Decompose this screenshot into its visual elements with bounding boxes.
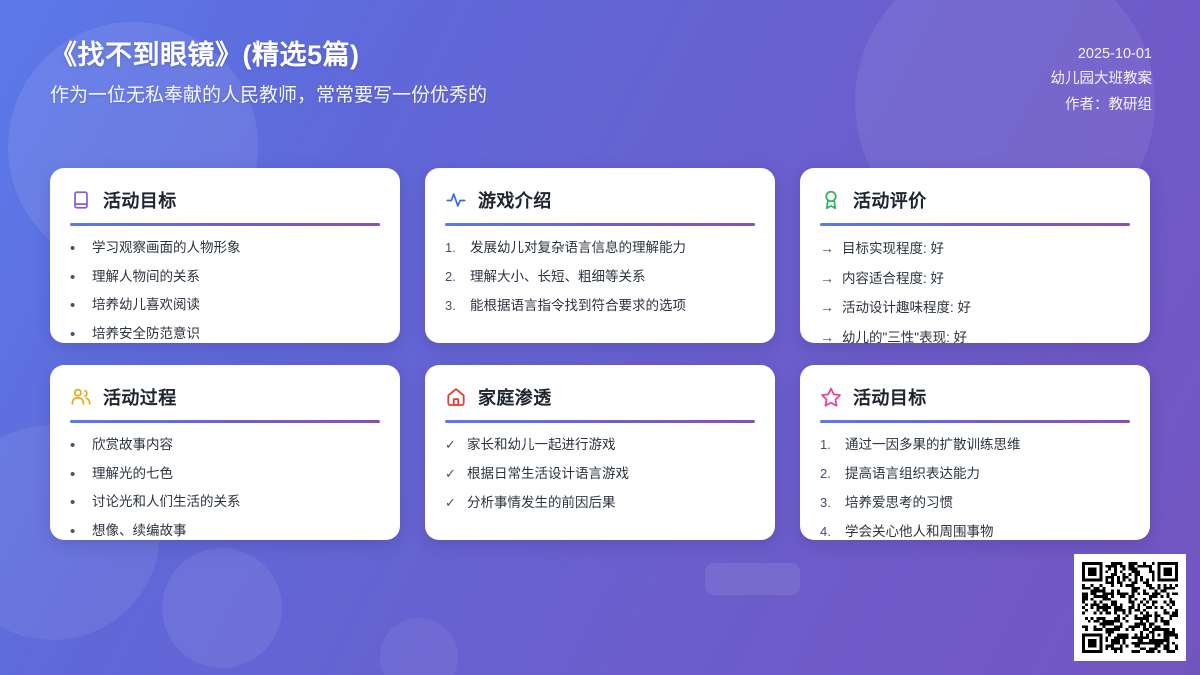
- list-marker: 2.: [820, 465, 837, 484]
- book-icon: [70, 189, 92, 211]
- header-category: 幼儿园大班教案: [1051, 67, 1153, 92]
- list-marker: →: [820, 268, 834, 288]
- list-item: 4.学会关心他人和周围事物: [820, 522, 1130, 540]
- list-marker: ✓: [445, 436, 459, 455]
- activity-pulse-icon: [445, 189, 467, 211]
- card-header: 家庭渗透: [445, 382, 755, 412]
- list-item: 3.培养爱思考的习惯: [820, 493, 1130, 513]
- list-item-text: 学会关心他人和周围事物: [845, 522, 1130, 540]
- card-list: 1.通过一因多果的扩散训练思维2.提高语言组织表达能力3.培养爱思考的习惯4.学…: [820, 435, 1130, 540]
- card-list: 1.发展幼儿对复杂语言信息的理解能力2.理解大小、长短、粗细等关系3.能根据语言…: [445, 238, 755, 316]
- card-divider: [820, 223, 1130, 226]
- list-marker: 3.: [820, 494, 837, 513]
- list-item-text: 欣赏故事内容: [92, 435, 380, 455]
- header-author: 作者：教研组: [1051, 93, 1153, 118]
- list-item: •理解人物间的关系: [70, 267, 380, 287]
- card-divider: [70, 420, 380, 423]
- card-header: 游戏介绍: [445, 185, 755, 215]
- card-list: •学习观察画面的人物形象•理解人物间的关系•培养幼儿喜欢阅读•培养安全防范意识: [70, 238, 380, 343]
- list-item: ✓根据日常生活设计语言游戏: [445, 464, 755, 484]
- users-icon: [70, 386, 92, 408]
- list-marker: •: [70, 327, 84, 342]
- page-subtitle: 作为一位无私奉献的人民教师，常常要写一份优秀的: [50, 83, 487, 109]
- list-item-text: 想像、续编故事: [92, 521, 380, 540]
- card-header: 活动目标: [820, 382, 1130, 412]
- list-marker: •: [70, 524, 84, 539]
- list-item-text: 培养爱思考的习惯: [845, 493, 1130, 513]
- star-icon: [820, 386, 842, 408]
- list-item-text: 发展幼儿对复杂语言信息的理解能力: [470, 238, 755, 258]
- list-item: →目标实现程度: 好: [820, 238, 1130, 259]
- content-card: 活动目标1.通过一因多果的扩散训练思维2.提高语言组织表达能力3.培养爱思考的习…: [800, 365, 1150, 540]
- card-list: →目标实现程度: 好→内容适合程度: 好→活动设计趣味程度: 好→幼儿的"三性"…: [820, 238, 1130, 343]
- list-item: 3.能根据语言指令找到符合要求的选项: [445, 296, 755, 316]
- list-marker: →: [820, 297, 834, 317]
- list-item-text: 学习观察画面的人物形象: [92, 238, 380, 258]
- card-title: 活动目标: [103, 187, 177, 213]
- list-marker: •: [70, 270, 84, 285]
- list-item-text: 提高语言组织表达能力: [845, 464, 1130, 484]
- list-item: →内容适合程度: 好: [820, 268, 1130, 289]
- content-card: 活动评价→目标实现程度: 好→内容适合程度: 好→活动设计趣味程度: 好→幼儿的…: [800, 168, 1150, 343]
- card-title: 家庭渗透: [478, 384, 552, 410]
- page-header: 《找不到眼镜》(精选5篇) 作为一位无私奉献的人民教师，常常要写一份优秀的 20…: [0, 0, 1200, 150]
- list-item-text: 能根据语言指令找到符合要求的选项: [470, 296, 755, 316]
- list-item: •培养安全防范意识: [70, 324, 380, 343]
- qr-code[interactable]: [1074, 554, 1186, 661]
- card-header: 活动目标: [70, 185, 380, 215]
- decorative-circle-lower-left: [162, 548, 282, 668]
- list-item-text: 家长和幼儿一起进行游戏: [467, 435, 755, 455]
- card-list: ✓家长和幼儿一起进行游戏✓根据日常生活设计语言游戏✓分析事情发生的前因后果: [445, 435, 755, 513]
- list-item: →活动设计趣味程度: 好: [820, 297, 1130, 318]
- card-divider: [445, 223, 755, 226]
- page-title: 《找不到眼镜》(精选5篇): [50, 38, 487, 73]
- content-card: 活动目标•学习观察画面的人物形象•理解人物间的关系•培养幼儿喜欢阅读•培养安全防…: [50, 168, 400, 343]
- list-item: •理解光的七色: [70, 464, 380, 484]
- card-title: 游戏介绍: [478, 187, 552, 213]
- list-item-text: 目标实现程度: 好: [842, 239, 1130, 259]
- list-marker: •: [70, 467, 84, 482]
- list-item: 1.通过一因多果的扩散训练思维: [820, 435, 1130, 455]
- list-item: 2.理解大小、长短、粗细等关系: [445, 267, 755, 287]
- list-item-text: 理解大小、长短、粗细等关系: [470, 267, 755, 287]
- list-marker: 1.: [820, 436, 837, 455]
- list-marker: 4.: [820, 523, 837, 540]
- card-list: •欣赏故事内容•理解光的七色•讨论光和人们生活的关系•想像、续编故事: [70, 435, 380, 540]
- list-item: •想像、续编故事: [70, 521, 380, 540]
- header-left-block: 《找不到眼镜》(精选5篇) 作为一位无私奉献的人民教师，常常要写一份优秀的: [50, 38, 487, 109]
- list-item: ✓家长和幼儿一起进行游戏: [445, 435, 755, 455]
- header-meta-block: 2025-10-01 幼儿园大班教案 作者：教研组: [1051, 38, 1153, 118]
- list-marker: 1.: [445, 239, 462, 258]
- list-marker: ✓: [445, 494, 459, 513]
- list-item-text: 活动设计趣味程度: 好: [842, 298, 1130, 318]
- award-ribbon-icon: [820, 189, 842, 211]
- card-title: 活动过程: [103, 384, 177, 410]
- list-marker: •: [70, 241, 84, 256]
- list-item: •学习观察画面的人物形象: [70, 238, 380, 258]
- content-card: 家庭渗透✓家长和幼儿一起进行游戏✓根据日常生活设计语言游戏✓分析事情发生的前因后…: [425, 365, 775, 540]
- decorative-rounded-rect: [705, 563, 800, 595]
- list-item-text: 根据日常生活设计语言游戏: [467, 464, 755, 484]
- decorative-circle-bottom: [380, 618, 458, 675]
- list-item: •讨论光和人们生活的关系: [70, 492, 380, 512]
- card-divider: [445, 420, 755, 423]
- qr-code-image: [1082, 562, 1178, 653]
- list-marker: →: [820, 238, 834, 258]
- card-divider: [820, 420, 1130, 423]
- list-item-text: 培养幼儿喜欢阅读: [92, 295, 380, 315]
- card-title: 活动评价: [853, 187, 927, 213]
- list-item-text: 通过一因多果的扩散训练思维: [845, 435, 1130, 455]
- home-icon: [445, 386, 467, 408]
- card-title: 活动目标: [853, 384, 927, 410]
- list-item-text: 培养安全防范意识: [92, 324, 380, 343]
- card-header: 活动过程: [70, 382, 380, 412]
- list-item-text: 理解光的七色: [92, 464, 380, 484]
- list-marker: 2.: [445, 268, 462, 287]
- list-item: ✓分析事情发生的前因后果: [445, 493, 755, 513]
- list-item-text: 内容适合程度: 好: [842, 269, 1130, 289]
- list-marker: •: [70, 298, 84, 313]
- list-item: 2.提高语言组织表达能力: [820, 464, 1130, 484]
- content-card: 活动过程•欣赏故事内容•理解光的七色•讨论光和人们生活的关系•想像、续编故事: [50, 365, 400, 540]
- content-card: 游戏介绍1.发展幼儿对复杂语言信息的理解能力2.理解大小、长短、粗细等关系3.能…: [425, 168, 775, 343]
- list-marker: →: [820, 327, 834, 343]
- list-item: 1.发展幼儿对复杂语言信息的理解能力: [445, 238, 755, 258]
- list-item: →幼儿的"三性"表现: 好: [820, 327, 1130, 343]
- list-item: •欣赏故事内容: [70, 435, 380, 455]
- list-item-text: 理解人物间的关系: [92, 267, 380, 287]
- card-divider: [70, 223, 380, 226]
- list-marker: ✓: [445, 465, 459, 484]
- list-marker: •: [70, 438, 84, 453]
- card-header: 活动评价: [820, 185, 1130, 215]
- list-item-text: 讨论光和人们生活的关系: [92, 492, 380, 512]
- list-item-text: 分析事情发生的前因后果: [467, 493, 755, 513]
- list-item: •培养幼儿喜欢阅读: [70, 295, 380, 315]
- list-marker: 3.: [445, 297, 462, 316]
- card-grid: 活动目标•学习观察画面的人物形象•理解人物间的关系•培养幼儿喜欢阅读•培养安全防…: [50, 168, 1150, 540]
- list-item-text: 幼儿的"三性"表现: 好: [842, 328, 1130, 343]
- list-marker: •: [70, 495, 84, 510]
- header-date: 2025-10-01: [1051, 42, 1153, 67]
